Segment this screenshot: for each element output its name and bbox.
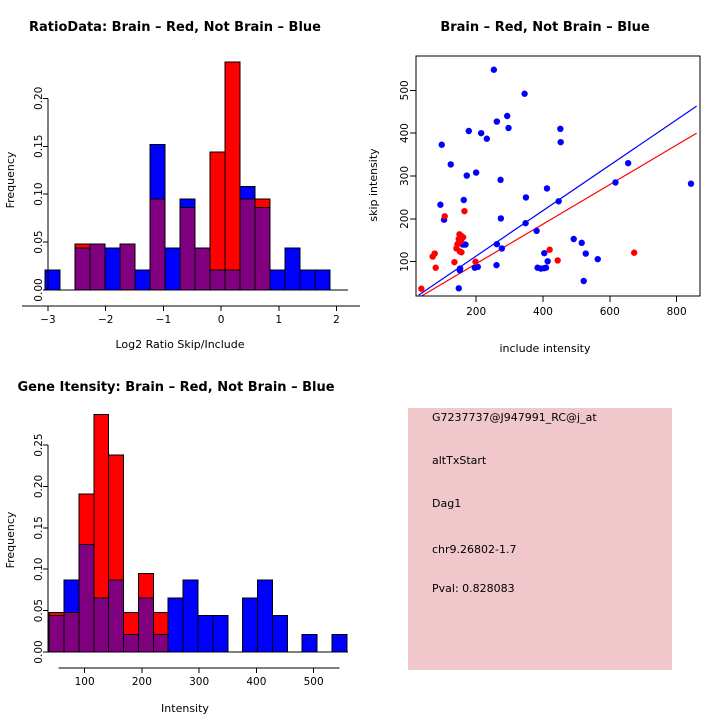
histogram-bar <box>138 573 153 598</box>
histogram-bar <box>150 199 165 290</box>
scatter-point <box>498 215 504 221</box>
svg-text:100: 100 <box>75 676 95 688</box>
svg-text:−2: −2 <box>98 314 113 326</box>
gene-histogram-title: Gene Itensity: Brain – Red, Not Brain – … <box>17 380 334 395</box>
gene-histogram-xlabel: Intensity <box>161 702 209 715</box>
scatter-point <box>504 113 510 119</box>
intensity-scatter-svg: Brain – Red, Not Brain – Blue include in… <box>360 0 720 360</box>
svg-text:2: 2 <box>333 314 340 326</box>
scatter-point <box>418 286 424 292</box>
histogram-bar <box>75 248 90 290</box>
scatter-point <box>595 256 601 262</box>
svg-text:1: 1 <box>275 314 282 326</box>
scatter-ylabel: skip intensity <box>367 148 380 222</box>
scatter-point <box>522 220 528 226</box>
histogram-bar <box>109 580 124 652</box>
scatter-point <box>541 250 547 256</box>
scatter-point <box>458 249 464 255</box>
svg-text:−3: −3 <box>40 314 55 326</box>
scatter-point <box>543 265 549 271</box>
histogram-bar <box>150 144 165 199</box>
histogram-bar <box>243 598 258 652</box>
svg-text:500: 500 <box>304 676 324 688</box>
histogram-bar <box>120 244 135 290</box>
scatter-points <box>418 67 694 292</box>
histogram-bar <box>240 187 255 199</box>
scatter-point <box>456 285 462 291</box>
panel-gene-intensity-histogram: Gene Itensity: Brain – Red, Not Brain – … <box>0 360 360 720</box>
scatter-point <box>544 185 550 191</box>
histogram-bar <box>79 544 94 652</box>
ratio-histogram-ylabel: Frequency <box>4 151 17 208</box>
scatter-point <box>544 258 550 264</box>
svg-text:0.00: 0.00 <box>33 278 45 301</box>
scatter-point <box>494 118 500 124</box>
scatter-point <box>499 245 505 251</box>
histogram-bar <box>240 199 255 290</box>
svg-text:400: 400 <box>533 306 553 318</box>
panel-ratio-histogram: RatioData: Brain – Red, Not Brain – Blue… <box>0 0 360 360</box>
histogram-bar <box>94 598 109 652</box>
svg-text:−1: −1 <box>156 314 171 326</box>
svg-text:500: 500 <box>399 80 411 100</box>
ratio-histogram-title: RatioData: Brain – Red, Not Brain – Blue <box>29 20 321 35</box>
histogram-bar <box>165 248 180 290</box>
scatter-point <box>478 130 484 136</box>
gene-info-svg: G7237737@J947991_RC@j_at altTxStart Dag1… <box>360 360 720 720</box>
svg-text:0.10: 0.10 <box>33 182 45 205</box>
scatter-point <box>461 197 467 203</box>
histogram-bar <box>332 635 347 652</box>
histogram-bar <box>105 248 120 290</box>
info-probe-id: G7237737@J947991_RC@j_at <box>432 411 597 424</box>
svg-text:300: 300 <box>189 676 209 688</box>
scatter-point <box>472 259 478 265</box>
histogram-bar <box>213 616 228 652</box>
scatter-point <box>461 208 467 214</box>
histogram-bar <box>180 208 195 290</box>
scatter-point <box>494 241 500 247</box>
histogram-bar <box>153 612 168 634</box>
scatter-point <box>430 253 436 259</box>
gene-histogram-bars <box>49 414 347 652</box>
histogram-bar <box>210 152 225 270</box>
scatter-point <box>439 142 445 148</box>
scatter-point <box>625 160 631 166</box>
info-gene-symbol: Dag1 <box>432 497 461 510</box>
histogram-bar <box>75 244 90 248</box>
histogram-bar <box>168 598 183 652</box>
histogram-bar <box>225 62 240 270</box>
svg-text:800: 800 <box>667 306 687 318</box>
histogram-bar <box>64 612 79 652</box>
histogram-bar <box>124 612 139 634</box>
scatter-point <box>491 67 497 73</box>
scatter-point <box>464 172 470 178</box>
histogram-bar <box>45 270 60 290</box>
scatter-point <box>442 213 448 219</box>
scatter-point <box>437 202 443 208</box>
info-pval: Pval: 0.828083 <box>432 582 515 595</box>
histogram-bar <box>270 270 285 290</box>
histogram-bar <box>255 208 270 290</box>
histogram-bar <box>198 616 213 652</box>
scatter-point <box>493 262 499 268</box>
scatter-title: Brain – Red, Not Brain – Blue <box>440 20 649 35</box>
scatter-point <box>433 265 439 271</box>
ratio-histogram-xlabel: Log2 Ratio Skip/Include <box>115 338 244 351</box>
histogram-bar <box>90 244 105 290</box>
svg-text:100: 100 <box>399 252 411 272</box>
scatter-point <box>521 91 527 97</box>
scatter-point <box>546 247 552 253</box>
info-panel-background <box>408 408 672 670</box>
svg-text:0.20: 0.20 <box>33 475 45 498</box>
scatter-point <box>688 181 694 187</box>
svg-text:0.10: 0.10 <box>33 558 45 581</box>
histogram-bar <box>300 270 315 290</box>
histogram-bar <box>183 580 198 652</box>
svg-text:0.05: 0.05 <box>33 599 45 622</box>
scatter-point <box>533 228 539 234</box>
scatter-point <box>448 161 454 167</box>
scatter-point <box>484 136 490 142</box>
scatter-point <box>581 278 587 284</box>
histogram-bar <box>180 199 195 208</box>
scatter-point <box>523 194 529 200</box>
histogram-bar <box>135 270 150 290</box>
scatter-point <box>457 267 463 273</box>
scatter-xlabel: include intensity <box>499 342 591 355</box>
histogram-bar <box>94 414 109 598</box>
histogram-bar <box>285 248 300 290</box>
scatter-point <box>554 257 560 263</box>
scatter-point <box>473 169 479 175</box>
svg-text:0: 0 <box>218 314 225 326</box>
panel-gene-info: G7237737@J947991_RC@j_at altTxStart Dag1… <box>360 360 720 720</box>
scatter-point <box>612 179 618 185</box>
svg-text:200: 200 <box>466 306 486 318</box>
svg-text:400: 400 <box>399 123 411 143</box>
info-event-type: altTxStart <box>432 454 487 467</box>
svg-text:0.00: 0.00 <box>33 640 45 663</box>
info-locus: chr9.26802-1.7 <box>432 543 517 556</box>
svg-text:0.15: 0.15 <box>33 516 45 539</box>
svg-text:400: 400 <box>246 676 266 688</box>
gene-histogram-svg: Gene Itensity: Brain – Red, Not Brain – … <box>0 360 360 720</box>
histogram-bar <box>315 270 330 290</box>
svg-text:200: 200 <box>399 209 411 229</box>
scatter-point <box>631 250 637 256</box>
figure-root: RatioData: Brain – Red, Not Brain – Blue… <box>0 0 720 720</box>
histogram-bar <box>64 580 79 612</box>
scatter-point <box>557 126 563 132</box>
histogram-bar <box>79 494 94 544</box>
histogram-bar <box>124 635 139 652</box>
scatter-point <box>497 177 503 183</box>
gene-histogram-ylabel: Frequency <box>4 511 17 568</box>
scatter-point <box>579 240 585 246</box>
scatter-point <box>505 125 511 131</box>
svg-text:0.25: 0.25 <box>33 433 45 456</box>
svg-text:0.20: 0.20 <box>33 87 45 110</box>
histogram-bar <box>255 199 270 208</box>
scatter-point <box>583 250 589 256</box>
ratio-histogram-bars <box>45 62 330 290</box>
histogram-bar <box>225 270 240 290</box>
svg-text:300: 300 <box>399 166 411 186</box>
histogram-bar <box>272 616 287 652</box>
histogram-bar <box>302 635 317 652</box>
svg-text:600: 600 <box>600 306 620 318</box>
svg-text:0.15: 0.15 <box>33 135 45 158</box>
scatter-point <box>557 139 563 145</box>
histogram-bar <box>210 270 225 290</box>
svg-text:0.05: 0.05 <box>33 230 45 253</box>
scatter-point <box>571 236 577 242</box>
scatter-point <box>451 259 457 265</box>
panel-intensity-scatter: Brain – Red, Not Brain – Blue include in… <box>360 0 720 360</box>
svg-text:200: 200 <box>132 676 152 688</box>
histogram-bar <box>138 598 153 652</box>
ratio-histogram-svg: RatioData: Brain – Red, Not Brain – Blue… <box>0 0 360 360</box>
histogram-bar <box>109 455 124 580</box>
scatter-point <box>466 128 472 134</box>
histogram-bar <box>195 248 210 290</box>
histogram-bar <box>258 580 273 652</box>
histogram-bar <box>153 635 168 652</box>
histogram-bar <box>49 616 64 652</box>
scatter-point <box>555 198 561 204</box>
